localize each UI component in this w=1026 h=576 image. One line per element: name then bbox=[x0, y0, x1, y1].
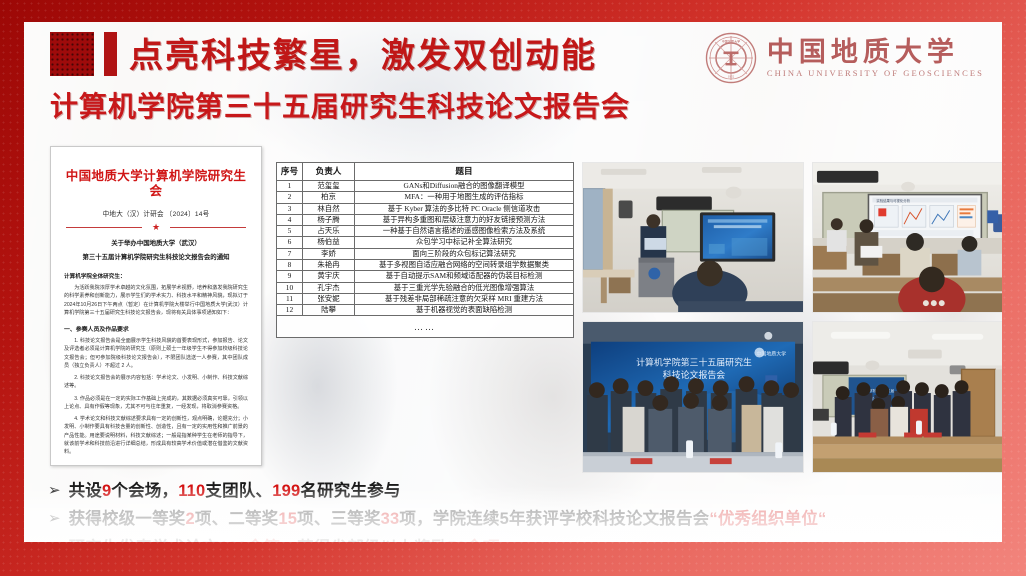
bullet-item: ➢获得校级一等奖2项、二等奖15项、三等奖33项，学院连续5年获评学校科技论文报… bbox=[48, 510, 988, 529]
column-header-no: 序号 bbox=[277, 163, 303, 181]
table-row: 2柏京MFA：一种用于地图生成的评估指标 bbox=[277, 192, 574, 203]
page-title: 点亮科技繁星，激发双创动能 bbox=[129, 28, 597, 77]
cell-owner: 林自然 bbox=[303, 203, 355, 214]
divider-right bbox=[170, 227, 246, 228]
notice-paragraph: 4. 学术论文和科技文献综述要求具有一定的创新性，观点明确，论据充分；小发明、小… bbox=[64, 415, 248, 456]
cell-owner: 李娇 bbox=[303, 248, 355, 259]
table-row-more: …… bbox=[277, 316, 574, 338]
bullet-plain: 支团队、 bbox=[205, 482, 272, 500]
cell-title: 众包学习中标记补全算法研究 bbox=[355, 237, 574, 248]
table-row: 12陆攀基于机器视觉的表面缺陷检测 bbox=[277, 305, 574, 316]
cell-no: 2 bbox=[277, 192, 303, 203]
bullet-highlight: 199 bbox=[272, 482, 300, 500]
cell-owner: 朱艳冉 bbox=[303, 259, 355, 270]
notice-salutation: 计算机学院全体研究生： bbox=[64, 272, 248, 280]
cell-no: 4 bbox=[277, 214, 303, 225]
notice-paragraph: 为活跃我院浓厚学术卓越的文化氛围，拓展学术视野，培养和激发我院研究生的科学素养和… bbox=[64, 284, 248, 317]
svg-text:中国地质大学: 中国地质大学 bbox=[722, 39, 741, 44]
bullet-plain: 项、三等奖 bbox=[297, 510, 381, 528]
bullet-item: ➢共设9个会场，110支团队、199名研究生参与 bbox=[48, 482, 988, 501]
table-row: 5占天乐一种基于自然语言描述的遥感图像检索方法及系统 bbox=[277, 226, 574, 237]
logo-name-cn: 中国地质大学 bbox=[767, 38, 984, 66]
notice-paragraph: 2. 科技论文报告会的展示内容包括：学术论文、小发明、小制作、科技文献综述等。 bbox=[64, 374, 248, 391]
bullet-item: ➢研究生发表学术论文100余篇，获得省部级以上奖励50余项 bbox=[48, 539, 988, 542]
cug-seal-icon: 中国地质大学 1952 bbox=[705, 32, 757, 84]
cell-owner: 张安妮 bbox=[303, 293, 355, 304]
bullet-highlight: 100余篇 bbox=[219, 539, 281, 542]
column-header-owner: 负责人 bbox=[303, 163, 355, 181]
cell-no: 1 bbox=[277, 181, 303, 192]
notice-paragraph: 1. 科技论文报告会是全面展示学生科技风貌的首要表现形式，参加报告、论文及评选者… bbox=[64, 337, 248, 370]
bullet-highlight: 33 bbox=[381, 510, 400, 528]
bullet-arrow-icon: ➢ bbox=[48, 539, 61, 542]
table-row: 8朱艳冉基于多视图自适应融合网络的空间转录组学数据聚类 bbox=[277, 259, 574, 270]
cell-title: 基于三重光学先验融合的低光图像增强算法 bbox=[355, 282, 574, 293]
notice-divider: ★ bbox=[66, 224, 246, 231]
cell-more: …… bbox=[277, 316, 574, 338]
star-icon: ★ bbox=[152, 223, 160, 232]
cell-title: 面向三阶段的众包标记算法研究 bbox=[355, 248, 574, 259]
decor-vertical-bar-icon bbox=[104, 32, 117, 76]
cell-title: 一种基于自然语言描述的遥感图像检索方法及系统 bbox=[355, 226, 574, 237]
bullet-plain: 共设 bbox=[69, 482, 102, 500]
bullet-plain: 名研究生参与 bbox=[300, 482, 400, 500]
table-row: 9黄宇庆基于自动提示SAM和频域适配器的伪装目标检测 bbox=[277, 271, 574, 282]
svg-text:中国地质大学: 中国地质大学 bbox=[756, 351, 786, 358]
cell-title: 基于机器视觉的表面缺陷检测 bbox=[355, 305, 574, 316]
bullet-plain: 项、二等奖 bbox=[195, 510, 279, 528]
bullet-plain: 获得校级一等奖 bbox=[69, 510, 186, 528]
cell-owner: 陆攀 bbox=[303, 305, 355, 316]
cell-owner: 孔宇杰 bbox=[303, 282, 355, 293]
cell-no: 7 bbox=[277, 248, 303, 259]
bullet-plain: 项，学院连续5年获评学校科技论文报告会 bbox=[399, 510, 709, 528]
photo-group-blue-screen: 计算机学院第三十五届研究生 科技论文报告会 中国地质大学 bbox=[582, 321, 804, 473]
page-subtitle: 计算机学院第三十五届研究生科技论文报告会 bbox=[50, 85, 630, 125]
cell-title: MFA：一种用于地图生成的评估指标 bbox=[355, 192, 574, 203]
bullet-highlight: “优秀组织单位“ bbox=[709, 510, 826, 528]
cell-owner: 黄宇庆 bbox=[303, 271, 355, 282]
logo-text-block: 中国地质大学 CHINA UNIVERSITY OF GEOSCIENCES bbox=[767, 38, 984, 77]
cell-title: 基于多视图自适应融合网络的空间转录组学数据聚类 bbox=[355, 259, 574, 270]
svg-text:计算机学院第三十五届研究生: 计算机学院第三十五届研究生 bbox=[636, 356, 752, 368]
table-header-row: 序号 负责人 题目 bbox=[277, 163, 574, 181]
table-body: 1范玺玺GANs和Diffusion融合的图像翻译模型2柏京MFA：一种用于地图… bbox=[277, 181, 574, 338]
table-row: 4杨子腾基于异构多重图和层级注意力的好友链接预测方法 bbox=[277, 214, 574, 225]
cell-no: 11 bbox=[277, 293, 303, 304]
cell-title: 基于 Kyber 算法的多比特 PC Oracle 侧信道攻击 bbox=[355, 203, 574, 214]
notice-paragraph: 3. 作品必须是在一定的实际工作基础上完成的，其数据必须真实可靠，引领以上论点、… bbox=[64, 395, 248, 412]
notice-document: 中国地质大学计算机学院研究生会 中地大（汉）计研会 〔2024〕14号 ★ 关于… bbox=[50, 146, 262, 466]
cell-no: 3 bbox=[277, 203, 303, 214]
cell-no: 10 bbox=[277, 282, 303, 293]
cell-title: 基于自动提示SAM和频域适配器的伪装目标检测 bbox=[355, 271, 574, 282]
cell-no: 6 bbox=[277, 237, 303, 248]
paper-list-table: 序号 负责人 题目 1范玺玺GANs和Diffusion融合的图像翻译模型2柏京… bbox=[276, 162, 574, 338]
cell-owner: 范玺玺 bbox=[303, 181, 355, 192]
bullet-highlight: 15 bbox=[278, 510, 297, 528]
bullet-arrow-icon: ➢ bbox=[48, 482, 61, 499]
bullet-plain: ，获得省部级以上奖励 bbox=[280, 539, 447, 542]
slide-root: 点亮科技繁星，激发双创动能 计算机学院第三十五届研究生科技论文报告会 中国地质大… bbox=[0, 0, 1026, 576]
table-row: 1范玺玺GANs和Diffusion融合的图像翻译模型 bbox=[277, 181, 574, 192]
photo-group-classroom: 计算机学院第三十五届 科技论文报告会 bbox=[812, 321, 1002, 473]
bullet-highlight: 110 bbox=[178, 482, 205, 500]
bullet-highlight: 2 bbox=[185, 510, 194, 528]
summary-bullets: ➢共设9个会场，110支团队、199名研究生参与➢获得校级一等奖2项、二等奖15… bbox=[48, 482, 988, 542]
table-row: 3林自然基于 Kyber 算法的多比特 PC Oracle 侧信道攻击 bbox=[277, 203, 574, 214]
cell-owner: 柏京 bbox=[303, 192, 355, 203]
cell-no: 12 bbox=[277, 305, 303, 316]
bullet-text: 研究生发表学术论文100余篇，获得省部级以上奖励50余项 bbox=[69, 539, 500, 542]
cell-owner: 杨伯益 bbox=[303, 237, 355, 248]
slide-header: 点亮科技繁星，激发双创动能 计算机学院第三十五届研究生科技论文报告会 中国地质大… bbox=[24, 22, 1002, 138]
bullet-plain: 个会场， bbox=[111, 482, 178, 500]
divider-left bbox=[66, 227, 142, 228]
cell-no: 5 bbox=[277, 226, 303, 237]
table-row: 7李娇面向三阶段的众包标记算法研究 bbox=[277, 248, 574, 259]
table-row: 10孔宇杰基于三重光学先验融合的低光图像增强算法 bbox=[277, 282, 574, 293]
bullet-text: 共设9个会场，110支团队、199名研究生参与 bbox=[69, 482, 401, 501]
photo-presentation-classroom bbox=[582, 162, 804, 313]
university-logo: 中国地质大学 1952 中国地质大学 CHINA UNIVERSITY OF G… bbox=[705, 32, 984, 84]
cell-no: 9 bbox=[277, 271, 303, 282]
table-row: 11张安妮基于残差非局部稀疏注意的欠采样 MRI 重建方法 bbox=[277, 293, 574, 304]
svg-text:1952: 1952 bbox=[728, 74, 735, 78]
bullet-highlight: 50余项 bbox=[447, 539, 499, 542]
svg-text:实验结果与可视化分析: 实验结果与可视化分析 bbox=[876, 198, 910, 203]
bullet-plain: 研究生发表学术论文 bbox=[69, 539, 219, 542]
slide-canvas: 点亮科技繁星，激发双创动能 计算机学院第三十五届研究生科技论文报告会 中国地质大… bbox=[24, 22, 1002, 542]
notice-section-heading: 一、参赛人员及作品要求 bbox=[64, 324, 248, 333]
notice-org-title: 中国地质大学计算机学院研究生会 bbox=[64, 169, 248, 199]
cell-owner: 占天乐 bbox=[303, 226, 355, 237]
logo-name-en: CHINA UNIVERSITY OF GEOSCIENCES bbox=[767, 68, 984, 78]
bullet-highlight: 9 bbox=[102, 482, 111, 500]
notice-heading-1: 关于举办中国地质大学（武汉） bbox=[64, 238, 248, 247]
cell-no: 8 bbox=[277, 259, 303, 270]
cell-title: 基于残差非局部稀疏注意的欠采样 MRI 重建方法 bbox=[355, 293, 574, 304]
notice-doc-code: 中地大（汉）计研会 〔2024〕14号 bbox=[64, 208, 248, 218]
bullet-text: 获得校级一等奖2项、二等奖15项、三等奖33项，学院连续5年获评学校科技论文报告… bbox=[69, 510, 827, 529]
cell-owner: 杨子腾 bbox=[303, 214, 355, 225]
table-row: 6杨伯益众包学习中标记补全算法研究 bbox=[277, 237, 574, 248]
column-header-title: 题目 bbox=[355, 163, 574, 181]
bullet-arrow-icon: ➢ bbox=[48, 510, 61, 527]
cell-title: 基于异构多重图和层级注意力的好友链接预测方法 bbox=[355, 214, 574, 225]
cell-title: GANs和Diffusion融合的图像翻译模型 bbox=[355, 181, 574, 192]
photo-presentation-charts: 实验结果与可视化分析 bbox=[812, 162, 1002, 313]
notice-heading-2: 第三十五届计算机学院研究生科技论文报告会的通知 bbox=[64, 252, 248, 261]
decor-dotted-square-icon bbox=[50, 32, 94, 76]
